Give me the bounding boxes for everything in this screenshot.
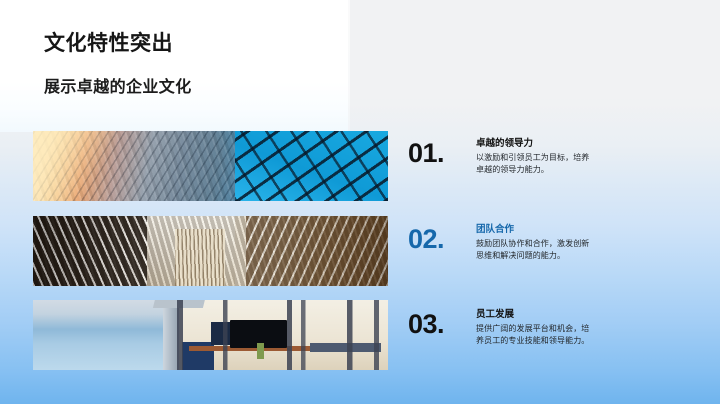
photo-layer-glass-mullions bbox=[33, 300, 388, 370]
item-text-block: 卓越的领导力 以激励和引领员工为目标，培养卓越的领导力能力。 bbox=[476, 138, 596, 177]
item-title: 卓越的领导力 bbox=[476, 138, 596, 150]
item-number: 01. bbox=[408, 140, 470, 167]
item-text-block: 团队合作 鼓励团队协作和合作，激发创新思维和解决问题的能力。 bbox=[476, 224, 596, 263]
page-title: 文化特性突出 bbox=[44, 27, 173, 57]
item-body: 以激励和引领员工为目标，培养卓越的领导力能力。 bbox=[476, 152, 596, 177]
page-subtitle: 展示卓越的企业文化 bbox=[44, 73, 192, 97]
item-body: 提供广阔的发展平台和机会，培养员工的专业技能和领导能力。 bbox=[476, 323, 596, 348]
item-text-block: 员工发展 提供广阔的发展平台和机会，培养员工的专业技能和领导能力。 bbox=[476, 309, 596, 348]
photo-skyscrapers-sepia bbox=[33, 216, 388, 286]
photo-layer-center-tower bbox=[175, 229, 225, 286]
item-number: 02. bbox=[408, 226, 470, 253]
photo-layer-left-tower bbox=[33, 216, 147, 286]
presentation-slide: 文化特性突出 展示卓越的企业文化 01. 卓越的领导力 bbox=[0, 0, 720, 404]
photo-office-interior bbox=[33, 300, 388, 370]
item-title: 团队合作 bbox=[476, 224, 596, 236]
photo-layer-blue-glass bbox=[235, 131, 388, 201]
header-background-edge bbox=[348, 0, 350, 132]
header-background bbox=[0, 0, 348, 132]
item-body: 鼓励团队协作和合作，激发创新思维和解决问题的能力。 bbox=[476, 238, 596, 263]
photo-skyscrapers-sunlight bbox=[33, 131, 388, 201]
item-title: 员工发展 bbox=[476, 309, 596, 321]
photo-layer-right-tower bbox=[246, 216, 388, 286]
item-number: 03. bbox=[408, 311, 470, 338]
